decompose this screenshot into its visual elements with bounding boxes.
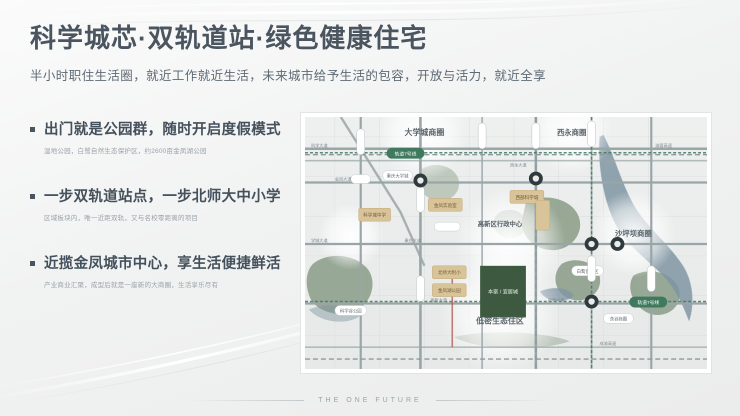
map-road-label: 高新大道 [430, 297, 447, 303]
map-road-label: 凤栖大道 [548, 297, 565, 303]
feature-item-1-title: 出门就是公园群，随时开启度假模式 [44, 118, 281, 139]
map-poi-label: 金凤湖公园 [438, 287, 461, 294]
feature-item-3-sub: 产业商业汇聚，成型后就是一座新的大商圈，生活享乐尽有 [44, 279, 292, 289]
feature-item-2-head: 一步双轨道站点，一步北师大中小学 [30, 185, 292, 206]
map-poi-label: 北师大附小 [438, 269, 461, 276]
map-district-label: 西永商圈 [557, 128, 586, 137]
slide-root: 科学城芯·双轨道站·绿色健康住宅 半小时职住生活圈，就近工作就近生活，未来城市给… [0, 0, 740, 416]
feature-item-2: 一步双轨道站点，一步北师大中小学 区域板块内，唯一近距双轨，又与名校零距离的项目 [30, 185, 292, 222]
map-road-label: 金凤大道 [335, 176, 352, 182]
map-poi-label: 重庆大学城 [387, 173, 409, 180]
feature-item-3-head: 近揽金凤城市中心，享生活便捷鲜活 [30, 252, 292, 273]
location-map: 本案 / 宜居城 金凤实验室 科学城中学 北师大附小 [305, 117, 707, 369]
map-poi-label: 西部科学城 [515, 194, 538, 201]
map-district-label: 沙坪坝商圈 [615, 229, 652, 238]
square-bullet-icon [30, 261, 35, 266]
feature-item-3-title: 近揽金凤城市中心，享生活便捷鲜活 [44, 252, 281, 273]
map-poi-label: 金凤实验室 [434, 202, 457, 209]
map-road-label: 西永大道 [510, 162, 527, 168]
map-poi-label: 含谷商圈 [610, 315, 627, 322]
map-road-label: 康庄大道 [405, 237, 422, 243]
map-station-label: 轨道7号线 [395, 150, 417, 157]
feature-item-2-title: 一步双轨道站点，一步北师大中小学 [44, 185, 281, 206]
location-map-panel: 本案 / 宜居城 金凤实验室 科学城中学 北师大附小 [300, 112, 712, 374]
footer: THE ONE FUTURE [0, 397, 740, 404]
page-title: 科学城芯·双轨道站·绿色健康住宅 [30, 24, 470, 54]
map-road-label: 科学大道 [311, 142, 328, 148]
map-canvas: 本案 / 宜居城 金凤实验室 科学城中学 北师大附小 [305, 117, 707, 369]
feature-item-1: 出门就是公园群，随时开启度假模式 湿地公园，白鹭自然生态保护区，约2600亩金凤… [30, 118, 292, 155]
map-road-label: 学城大道 [311, 237, 328, 243]
header: 科学城芯·双轨道站·绿色健康住宅 半小时职住生活圈，就近工作就近生活，未来城市给… [30, 24, 470, 84]
footer-brand-text: THE ONE FUTURE [318, 397, 421, 404]
map-project-block: 本案 / 宜居城 [480, 266, 526, 318]
footer-rule-left [189, 400, 304, 401]
feature-item-2-sub: 区域板块内，唯一近距双轨，又与名校零距离的项目 [44, 212, 292, 222]
page-subtitle: 半小时职住生活圈，就近工作就近生活，未来城市给予生活的包容，开放与活力，就近全享 [30, 65, 470, 84]
feature-item-1-head: 出门就是公园群，随时开启度假模式 [30, 118, 292, 139]
map-poi-label: 科学城中学 [363, 212, 386, 219]
square-bullet-icon [30, 194, 35, 199]
map-district-label: 高新区行政中心 [478, 219, 523, 228]
feature-item-1-sub: 湿地公园，白鹭自然生态保护区，约2600亩金凤湖公园 [44, 145, 292, 155]
map-station-label: 轨道7号线 [637, 299, 659, 306]
square-bullet-icon [30, 127, 35, 132]
map-road-label: 成渝高速 [600, 340, 617, 346]
footer-rule-right [436, 400, 551, 401]
map-road-label: 渝蓉高速 [655, 142, 672, 148]
map-project-label: 本案 / 宜居城 [488, 288, 518, 296]
feature-list: 出门就是公园群，随时开启度假模式 湿地公园，白鹭自然生态保护区，约2600亩金凤… [30, 118, 292, 289]
map-poi-label: 科学谷公园 [340, 307, 362, 314]
map-district-label: 大学城商圈 [405, 127, 445, 137]
map-district-label: 低密生态住区 [475, 315, 524, 325]
feature-item-3: 近揽金凤城市中心，享生活便捷鲜活 产业商业汇聚，成型后就是一座新的大商圈，生活享… [30, 252, 292, 289]
